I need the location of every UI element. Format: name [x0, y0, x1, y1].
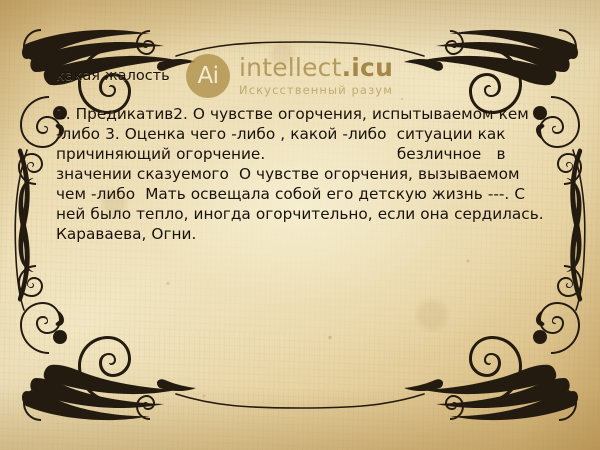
parchment-page: Ai intellect.icu Искусственный разум как…	[0, 0, 600, 450]
headword: какая жалость	[56, 68, 554, 85]
bottom-border-rule	[176, 394, 424, 408]
definition-body: 1. Предикатив2. О чувстве огорчения, исп…	[56, 105, 554, 244]
left-border-rule	[15, 150, 27, 310]
right-border-rule	[573, 150, 585, 310]
article-text: какая жалость 1. Предикатив2. О чувстве …	[56, 68, 554, 245]
top-border-rule	[176, 42, 424, 56]
